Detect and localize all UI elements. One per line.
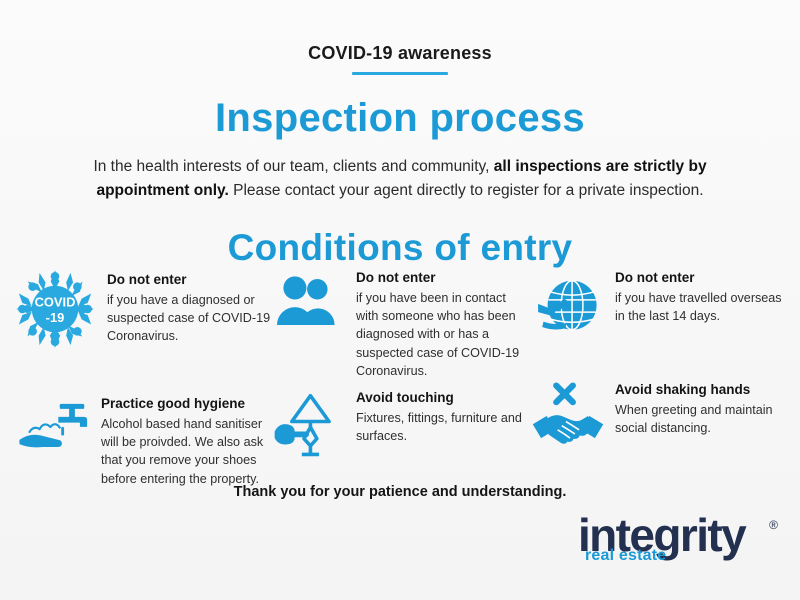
condition-text: Do not enter if you have a diagnosed or …	[107, 270, 271, 346]
covid-icon-label-top: COVID	[35, 294, 76, 309]
no-handshake-icon	[530, 380, 606, 456]
hand-washing-tap-icon	[16, 398, 92, 474]
condition-title: Practice good hygiene	[101, 396, 271, 413]
logo-word-post: rity	[680, 509, 745, 561]
kicker-divider	[352, 72, 448, 75]
intro-text-part2: Please contact your agent directly to re…	[229, 182, 704, 199]
condition-text: Avoid shaking hands When greeting and ma…	[615, 380, 788, 437]
two-people-icon	[271, 276, 347, 352]
condition-body: Alcohol based hand sanitiser will be pro…	[101, 415, 271, 488]
section-title-conditions: Conditions of entry	[0, 229, 800, 266]
condition-item: COVID -19 Do not enter if you have a dia…	[16, 270, 271, 380]
condition-title: Avoid touching	[356, 390, 530, 407]
condition-title: Do not enter	[615, 270, 788, 287]
intro-text-part1: In the health interests of our team, cli…	[93, 158, 493, 175]
condition-text: Do not enter if you have travelled overs…	[615, 268, 788, 325]
integrity-real-estate-logo: integrity real estate ®	[578, 512, 778, 574]
condition-body: if you have travelled overseas in the la…	[615, 289, 788, 326]
condition-body: if you have a diagnosed or suspected cas…	[107, 291, 271, 346]
condition-body: Fixtures, fittings, furniture and surfac…	[356, 409, 530, 446]
condition-item: Do not enter if you have been in contact…	[271, 268, 530, 380]
logo-subtitle: real estate	[585, 548, 666, 564]
condition-item: Avoid touching Fixtures, fittings, furni…	[271, 388, 530, 488]
condition-text: Do not enter if you have been in contact…	[356, 268, 530, 380]
registered-trademark-icon: ®	[769, 518, 778, 532]
condition-title: Do not enter	[356, 270, 530, 287]
condition-body: if you have been in contact with someone…	[356, 289, 530, 380]
intro-paragraph: In the health interests of our team, cli…	[50, 155, 750, 203]
lamp-pointing-hand-icon	[271, 390, 347, 466]
globe-plane-icon	[530, 274, 606, 350]
condition-text: Practice good hygiene Alcohol based hand…	[101, 394, 271, 488]
page-title: Inspection process	[0, 97, 800, 139]
covid-icon-label-bottom: -19	[46, 310, 65, 325]
covid-virus-icon: COVID -19	[12, 266, 98, 352]
condition-body: When greeting and maintain social distan…	[615, 401, 788, 438]
conditions-grid: COVID -19 Do not enter if you have a dia…	[16, 268, 788, 488]
condition-text: Avoid touching Fixtures, fittings, furni…	[356, 388, 530, 445]
infographic-page: COVID-19 awareness Inspection process In…	[0, 0, 800, 600]
condition-item: Do not enter if you have travelled overs…	[530, 268, 788, 380]
condition-item: Avoid shaking hands When greeting and ma…	[530, 380, 788, 488]
condition-title: Do not enter	[107, 272, 271, 289]
condition-title: Avoid shaking hands	[615, 382, 788, 399]
cross-icon	[556, 386, 573, 403]
thank-you-text: Thank you for your patience and understa…	[0, 484, 800, 500]
page-kicker: COVID-19 awareness	[0, 0, 800, 62]
condition-item: Practice good hygiene Alcohol based hand…	[16, 394, 271, 488]
